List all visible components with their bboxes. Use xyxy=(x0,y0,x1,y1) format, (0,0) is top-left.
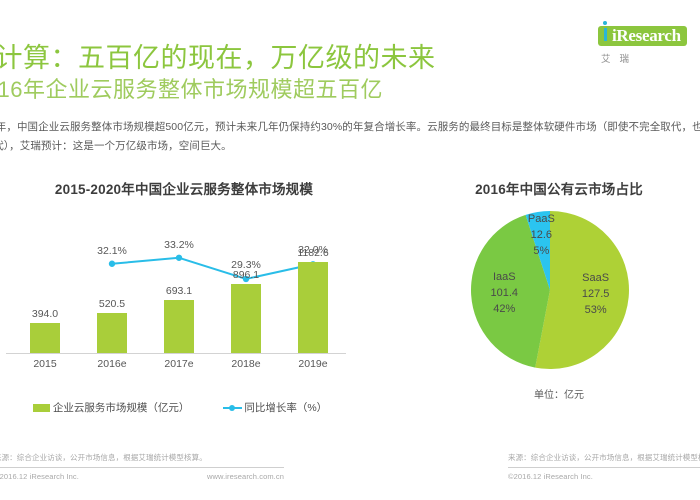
bar-category-label: 2016e xyxy=(79,353,145,370)
growth-rate-label: 29.3% xyxy=(223,259,269,271)
footer-source-right: 来源：综合企业访谈，公开市场信息，根据艾瑞统计模型核算。 xyxy=(508,452,700,467)
bar-rect: 520.5 xyxy=(97,313,127,353)
legend-label-growth-rate: 同比增长率（%） xyxy=(244,400,327,415)
legend-item-market-size: 企业云服务市场规模（亿元） xyxy=(33,400,190,415)
lede-paragraph: 2016年，中国企业云服务整体市场规模超500亿元，预计未来几年仍保持约30%的… xyxy=(0,118,700,156)
logo-i-stem-icon xyxy=(604,28,607,41)
bar-column: 693.12017e xyxy=(146,300,212,353)
legend-item-growth-rate: 同比增长率（%） xyxy=(223,400,327,415)
growth-rate-point xyxy=(176,255,182,261)
bar-chart-panel: 2015-2020年中国企业云服务整体市场规模 394.02015520.520… xyxy=(0,178,360,418)
footer-source-left: 来源：综合企业访谈，公开市场信息，根据艾瑞统计模型核算。 xyxy=(0,452,284,467)
growth-rate-label: 32.0% xyxy=(290,244,336,256)
iresearch-logo: iResearch 艾瑞 xyxy=(598,26,700,65)
pie-unit-label: 单位：亿元 xyxy=(440,386,700,401)
bar-category-label: 2015 xyxy=(12,353,78,370)
footer-copyright-left: ©2016.12 iResearch Inc. xyxy=(0,472,79,481)
bar-chart-plot: 394.02015520.52016e693.12017e896.12018e1… xyxy=(0,206,360,376)
legend-bar-swatch-icon xyxy=(33,404,50,412)
bar-value-label: 693.1 xyxy=(146,285,212,300)
footer-left: 来源：综合企业访谈，公开市场信息，根据艾瑞统计模型核算。 ©2016.12 iR… xyxy=(0,452,284,481)
bar-rect: 693.1 xyxy=(164,300,194,353)
page-subtitle: 2016年企业云服务整体市场规模超五百亿 xyxy=(0,72,383,104)
bar-rect: 896.1 xyxy=(231,284,261,353)
growth-rate-point xyxy=(109,261,115,267)
bar-value-label: 896.1 xyxy=(213,269,279,284)
logo-i-dot-icon xyxy=(603,21,607,25)
footer-copyright-right: ©2016.12 iResearch Inc. xyxy=(508,472,593,481)
bar-rect: 394.0 xyxy=(30,323,60,353)
bar-column: 520.52016e xyxy=(79,313,145,353)
bar-category-label: 2017e xyxy=(146,353,212,370)
bar-column: 896.12018e xyxy=(213,284,279,353)
legend-line-swatch-icon xyxy=(223,404,242,412)
growth-rate-label: 32.1% xyxy=(89,245,135,257)
bar-rect: 1182.6 xyxy=(298,262,328,353)
pie-chart-panel: 2016年中国公有云市场占比 SaaS127.553%IaaS101.442%P… xyxy=(440,178,700,418)
bar-column: 1182.62019e xyxy=(280,262,346,353)
pie-chart-title: 2016年中国公有云市场占比 xyxy=(440,178,700,198)
growth-rate-label: 33.2% xyxy=(156,239,202,251)
page-title: 云计算：五百亿的现在，万亿级的未来 xyxy=(0,36,436,75)
bar-category-label: 2019e xyxy=(280,353,346,370)
bar-chart-title: 2015-2020年中国企业云服务整体市场规模 xyxy=(0,178,360,198)
pie-slices xyxy=(470,210,630,370)
footer-right: 来源：综合企业访谈，公开市场信息，根据艾瑞统计模型核算。 ©2016.12 iR… xyxy=(508,452,700,481)
legend-label-market-size: 企业云服务市场规模（亿元） xyxy=(53,400,190,415)
bar-column: 394.02015 xyxy=(12,323,78,353)
logo-wordmark: iResearch xyxy=(612,28,681,43)
logo-chinese-name: 艾瑞 xyxy=(598,51,700,65)
bar-value-label: 394.0 xyxy=(12,308,78,323)
bar-category-label: 2018e xyxy=(213,353,279,370)
footer-website-left[interactable]: www.iresearch.com.cn xyxy=(207,472,284,481)
pie-chart-plot: SaaS127.553%IaaS101.442%PaaS12.65% xyxy=(470,210,630,370)
logo-mark: iResearch xyxy=(598,26,687,46)
bar-value-label: 520.5 xyxy=(79,298,145,313)
bar-chart-legend: 企业云服务市场规模（亿元） 同比增长率（%） xyxy=(0,400,360,415)
